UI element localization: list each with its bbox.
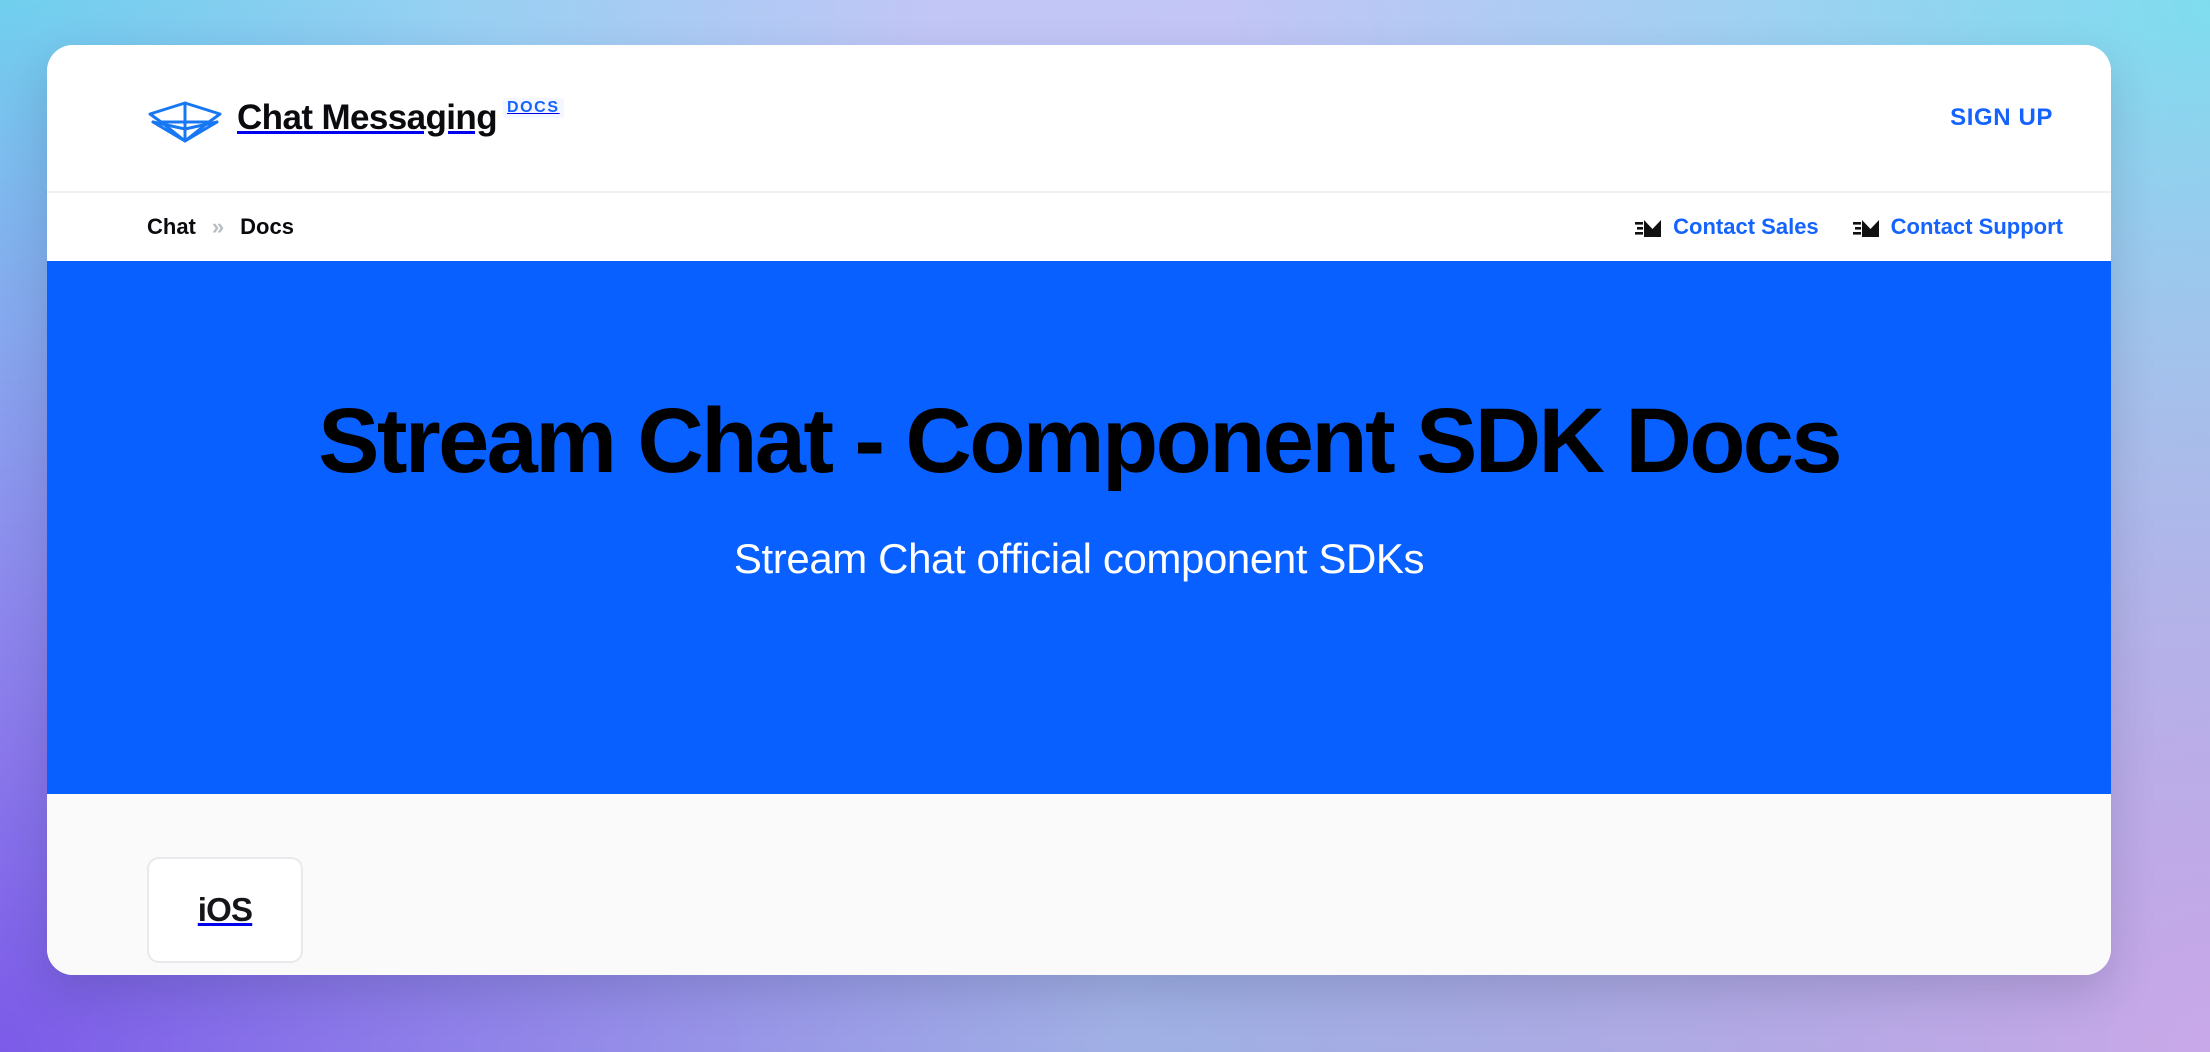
contact-support-link[interactable]: Contact Support [1853,214,2063,240]
breadcrumb-item-docs[interactable]: Docs [240,214,294,240]
sdk-list-section: iOS [47,794,2111,975]
mail-send-icon [1853,217,1879,238]
brand-text-group: Chat Messaging DOCS [237,96,564,140]
header-actions: Contact Sales Contact Support [1635,214,2063,240]
docs-badge: DOCS [503,98,564,118]
contact-sales-label: Contact Sales [1673,214,1819,240]
site-header: Chat Messaging DOCS SIGN UP [47,45,2111,191]
page-title: Stream Chat - Component SDK Docs [318,389,1840,493]
breadcrumb-item-chat[interactable]: Chat [147,214,196,240]
sdk-card-ios[interactable]: iOS [147,857,303,963]
contact-support-label: Contact Support [1891,214,2063,240]
app-window: Chat Messaging DOCS SIGN UP Chat » Docs … [47,45,2111,975]
page-subtitle: Stream Chat official component SDKs [734,535,1424,583]
sdk-card-label: iOS [198,891,252,929]
mail-send-icon [1635,217,1661,238]
contact-sales-link[interactable]: Contact Sales [1635,214,1819,240]
paper-boat-icon [147,100,223,144]
brand-name: Chat Messaging [237,96,497,140]
breadcrumb: Chat » Docs [147,214,294,240]
sdk-card-grid: iOS [147,857,2111,963]
breadcrumb-separator-icon: » [212,216,224,238]
breadcrumb-bar: Chat » Docs Contact Sales [47,191,2111,261]
sign-up-button[interactable]: SIGN UP [1932,94,2071,142]
brand-logo-link[interactable]: Chat Messaging DOCS [147,92,564,144]
hero-banner: Stream Chat - Component SDK Docs Stream … [47,261,2111,794]
